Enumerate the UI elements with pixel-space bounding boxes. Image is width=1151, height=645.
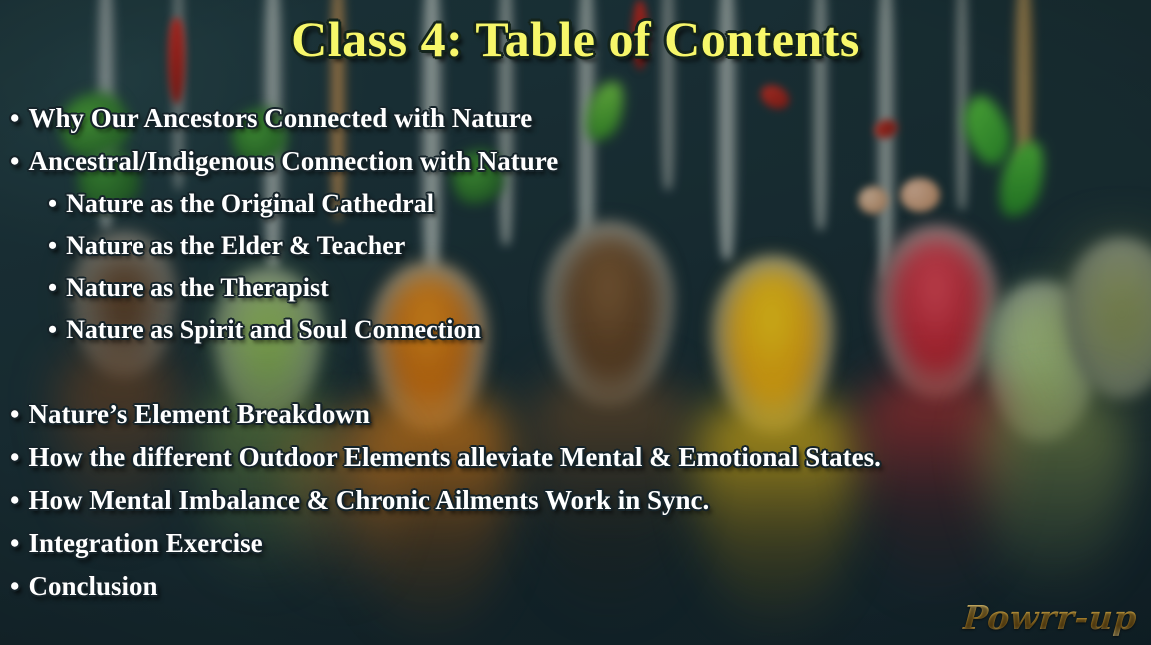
list-item: •Nature as the Original Cathedral [0,191,1151,217]
bullet-icon: • [48,231,57,260]
list-item-label: Integration Exercise [28,528,262,558]
list-item-label: Nature as the Original Cathedral [66,189,434,218]
list-item-label: Nature as Spirit and Soul Connection [66,315,481,344]
list-item-label: Nature as the Therapist [66,273,329,302]
list-item: •How the different Outdoor Elements alle… [0,444,1151,471]
list-item: •How Mental Imbalance & Chronic Ailments… [0,487,1151,514]
brand-watermark: Powrr-up [962,598,1139,637]
list-group-spacer [0,359,1151,401]
list-item-label: Ancestral/Indigenous Connection with Nat… [28,146,558,176]
slide-content: Class 4: Table of Contents •Why Our Ance… [0,0,1151,645]
list-item-label: Nature as the Elder & Teacher [66,231,405,260]
list-item: •Nature as the Therapist [0,275,1151,301]
list-item: •Why Our Ancestors Connected with Nature [0,105,1151,132]
list-item: •Nature’s Element Breakdown [0,401,1151,428]
list-item: •Nature as the Elder & Teacher [0,233,1151,259]
bullet-icon: • [48,273,57,302]
list-item-label: Conclusion [28,571,157,601]
list-item-label: Nature’s Element Breakdown [28,399,370,429]
bullet-icon: • [10,146,19,176]
page-title: Class 4: Table of Contents [0,10,1151,68]
list-item-label: How Mental Imbalance & Chronic Ailments … [28,485,709,515]
list-item: •Conclusion [0,573,1151,600]
bullet-icon: • [10,399,19,429]
bullet-icon: • [10,528,19,558]
presentation-slide: Class 4: Table of Contents •Why Our Ance… [0,0,1151,645]
bullet-icon: • [10,485,19,515]
bullet-icon: • [48,189,57,218]
list-item-label: How the different Outdoor Elements allev… [28,442,880,472]
list-item: •Ancestral/Indigenous Connection with Na… [0,148,1151,175]
list-item: •Integration Exercise [0,530,1151,557]
list-item-label: Why Our Ancestors Connected with Nature [28,103,532,133]
bullet-icon: • [10,103,19,133]
bullet-icon: • [10,571,19,601]
bullet-icon: • [48,315,57,344]
table-of-contents-list: •Why Our Ancestors Connected with Nature… [0,105,1151,616]
bullet-icon: • [10,442,19,472]
list-item: •Nature as Spirit and Soul Connection [0,317,1151,343]
